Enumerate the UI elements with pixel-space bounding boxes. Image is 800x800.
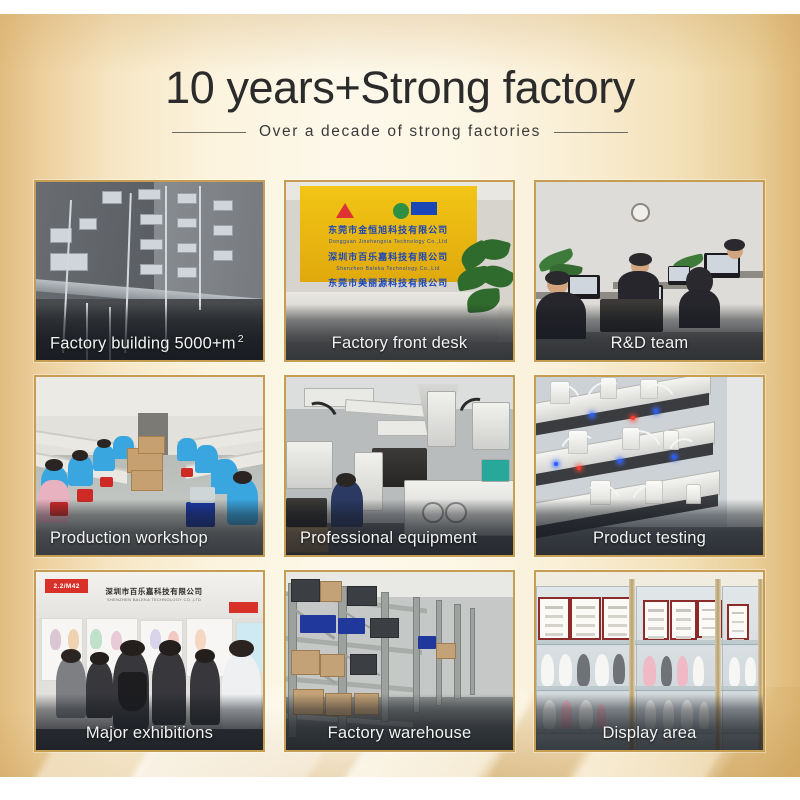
- top-white-margin: [0, 0, 800, 14]
- caption-overlay: Product testing: [536, 499, 763, 555]
- photo-product-testing: Product testing: [536, 377, 763, 555]
- photo-factory-warehouse: Factory warehouse: [286, 572, 513, 750]
- gallery-cell-factory-building[interactable]: Factory building 5000+m2: [34, 180, 265, 362]
- cell-caption: Display area: [602, 724, 696, 743]
- page-subtitle: Over a decade of strong factories: [259, 123, 541, 141]
- caption-overlay: Factory building 5000+m2: [36, 304, 263, 360]
- booth-banner-en: SHENZHEN BALEKA TECHNOLOGY CO.,LTD: [104, 597, 204, 602]
- photo-rd-team: R&D team: [536, 182, 763, 360]
- caption-overlay: Factory warehouse: [286, 694, 513, 750]
- gallery-cell-production-workshop[interactable]: Production workshop: [34, 375, 265, 557]
- subtitle-rule-right: [554, 132, 628, 133]
- sign-line2-en: Shenzhen Baleka Technology Co.,Ltd: [304, 266, 472, 272]
- photo-grid: Factory building 5000+m2 东莞市金恒旭科技有限公司 Do…: [34, 180, 766, 752]
- caption-overlay: Major exhibitions: [36, 694, 263, 750]
- page-title: 10 years+Strong factory: [0, 62, 800, 114]
- cell-caption: Professional equipment: [300, 529, 477, 548]
- booth-banner-cn: 深圳市百乐嘉科技有限公司: [104, 586, 204, 597]
- gallery-cell-major-exhibitions[interactable]: 2.2/M42 深圳市百乐嘉科技有限公司 SHENZHEN BALEKA TEC…: [34, 570, 265, 752]
- gallery-cell-factory-warehouse[interactable]: Factory warehouse: [284, 570, 515, 752]
- caption-overlay: Production workshop: [36, 499, 263, 555]
- gallery-cell-professional-equipment[interactable]: Professional equipment: [284, 375, 515, 557]
- caption-overlay: Factory front desk: [286, 304, 513, 360]
- cell-caption: Factory front desk: [332, 334, 468, 353]
- photo-production-workshop: Production workshop: [36, 377, 263, 555]
- booth-side-sign: [229, 602, 259, 613]
- gallery-cell-product-testing[interactable]: Product testing: [534, 375, 765, 557]
- photo-factory-front-desk: 东莞市金恒旭科技有限公司 Dongguan Jinehengxia Techno…: [286, 182, 513, 360]
- sign-line1-cn: 东莞市金恒旭科技有限公司: [304, 223, 472, 236]
- caption-overlay: R&D team: [536, 304, 763, 360]
- cell-caption: Factory building 5000+m2: [50, 333, 244, 354]
- subtitle-row: Over a decade of strong factories: [0, 123, 800, 141]
- photo-major-exhibitions: 2.2/M42 深圳市百乐嘉科技有限公司 SHENZHEN BALEKA TEC…: [36, 572, 263, 750]
- sign-line1-en: Dongguan Jinehengxia Technology Co.,Ltd: [304, 239, 472, 245]
- photo-display-area: Display area: [536, 572, 763, 750]
- sign-line3-cn: 东莞市美丽源科技有限公司: [304, 276, 472, 289]
- gallery-cell-factory-front-desk[interactable]: 东莞市金恒旭科技有限公司 Dongguan Jinehengxia Techno…: [284, 180, 515, 362]
- sign-line2-cn: 深圳市百乐嘉科技有限公司: [304, 250, 472, 263]
- factory-showcase-poster: 10 years+Strong factory Over a decade of…: [0, 0, 800, 800]
- poster-header: 10 years+Strong factory Over a decade of…: [0, 62, 800, 141]
- caption-overlay: Professional equipment: [286, 499, 513, 555]
- cell-caption: Product testing: [593, 529, 706, 548]
- gallery-cell-rd-team[interactable]: R&D team: [534, 180, 765, 362]
- bottom-white-margin: [0, 777, 800, 800]
- cell-caption: Production workshop: [50, 529, 208, 548]
- cell-caption: Major exhibitions: [86, 724, 213, 743]
- photo-factory-building: Factory building 5000+m2: [36, 182, 263, 360]
- cell-caption: Factory warehouse: [328, 724, 472, 743]
- booth-number-sign: 2.2/M42: [45, 579, 88, 593]
- caption-overlay: Display area: [536, 694, 763, 750]
- photo-professional-equipment: Professional equipment: [286, 377, 513, 555]
- gallery-cell-display-area[interactable]: Display area: [534, 570, 765, 752]
- cell-caption: R&D team: [611, 334, 689, 353]
- subtitle-rule-left: [172, 132, 246, 133]
